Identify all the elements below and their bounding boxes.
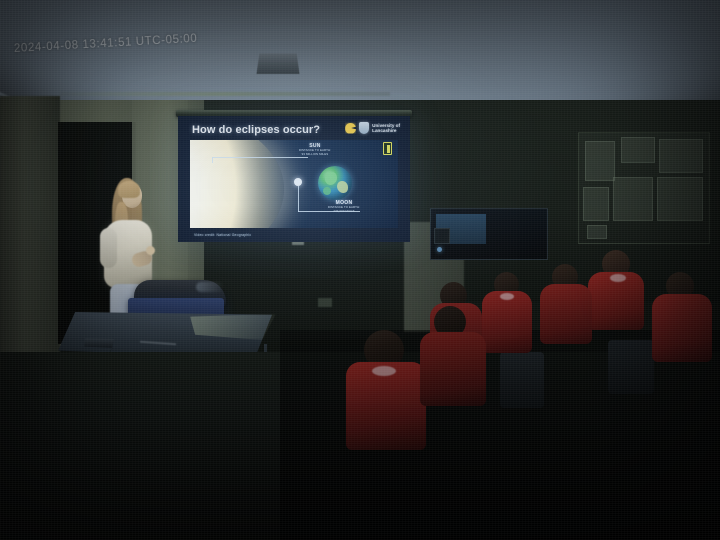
moon-leader-stem: [298, 186, 299, 212]
wall-noticeboard: [578, 132, 710, 244]
child-uniform: [540, 284, 592, 344]
audience-child: [650, 272, 716, 362]
earth-graphic: [318, 166, 352, 200]
moon-graphic: [294, 178, 302, 186]
sun-leader-line: [212, 157, 308, 158]
audience-child: [482, 272, 536, 354]
earth-landmass: [323, 187, 331, 195]
equipment-bag-highlight: [196, 282, 224, 292]
speaker-box: [434, 228, 450, 244]
presentation-slide: How do eclipses occur? University of Lan…: [178, 116, 410, 242]
shield-icon: [359, 122, 369, 134]
child-uniform: [420, 332, 486, 406]
university-logo: University of Lancashire: [345, 122, 400, 134]
presenter-hand: [146, 246, 155, 255]
brand-line-2: Lancashire: [372, 128, 400, 133]
projection-screen: How do eclipses occur? University of Lan…: [178, 116, 410, 242]
sun-sublabel: DISTANCE TO EARTH: 93 MILLION MILES: [280, 149, 350, 157]
slide-title: How do eclipses occur?: [192, 124, 320, 136]
earth-landmass: [325, 172, 337, 185]
brand-wordmark: University of Lancashire: [372, 123, 400, 134]
sun-label-group: SUN DISTANCE TO EARTH: 93 MILLION MILES: [280, 143, 350, 157]
moon-label-group: MOON DISTANCE TO EARTH: 239,000 MILES: [306, 200, 382, 214]
presenter-sleeve: [100, 228, 117, 268]
eclipse-diagram: SUN DISTANCE TO EARTH: 93 MILLION MILES …: [190, 140, 398, 228]
wall-socket: [318, 298, 332, 307]
child-collar: [372, 366, 396, 376]
presenter-hair-front: [118, 181, 140, 198]
ceiling-mount-bracket: [257, 53, 300, 73]
laptop-device: [84, 338, 114, 348]
sun-graphic: [190, 140, 284, 228]
video-source-badge: [383, 142, 392, 155]
child-uniform: [652, 294, 712, 362]
moon-sublabel: DISTANCE TO EARTH: 239,000 MILES: [306, 206, 382, 214]
audience-child: [420, 306, 490, 406]
ceiling-rail: [60, 92, 390, 96]
photo-scene: 2024-04-08 13:41:51 UTC-05:00 How do ecl…: [0, 0, 720, 540]
audience-child: [540, 264, 596, 344]
left-wall-pillar: [0, 96, 60, 396]
sun-leader-tick: [212, 157, 213, 163]
audience-child: [346, 330, 428, 450]
earth-landmass: [337, 181, 348, 193]
child-collar: [500, 293, 514, 300]
chair: [608, 340, 654, 394]
monitor-power-led: [437, 247, 442, 252]
crescent-moon-icon: [345, 123, 356, 134]
child-collar: [610, 274, 626, 282]
chair: [500, 352, 544, 408]
slide-credit: Video credit: National Geographic: [194, 233, 251, 237]
